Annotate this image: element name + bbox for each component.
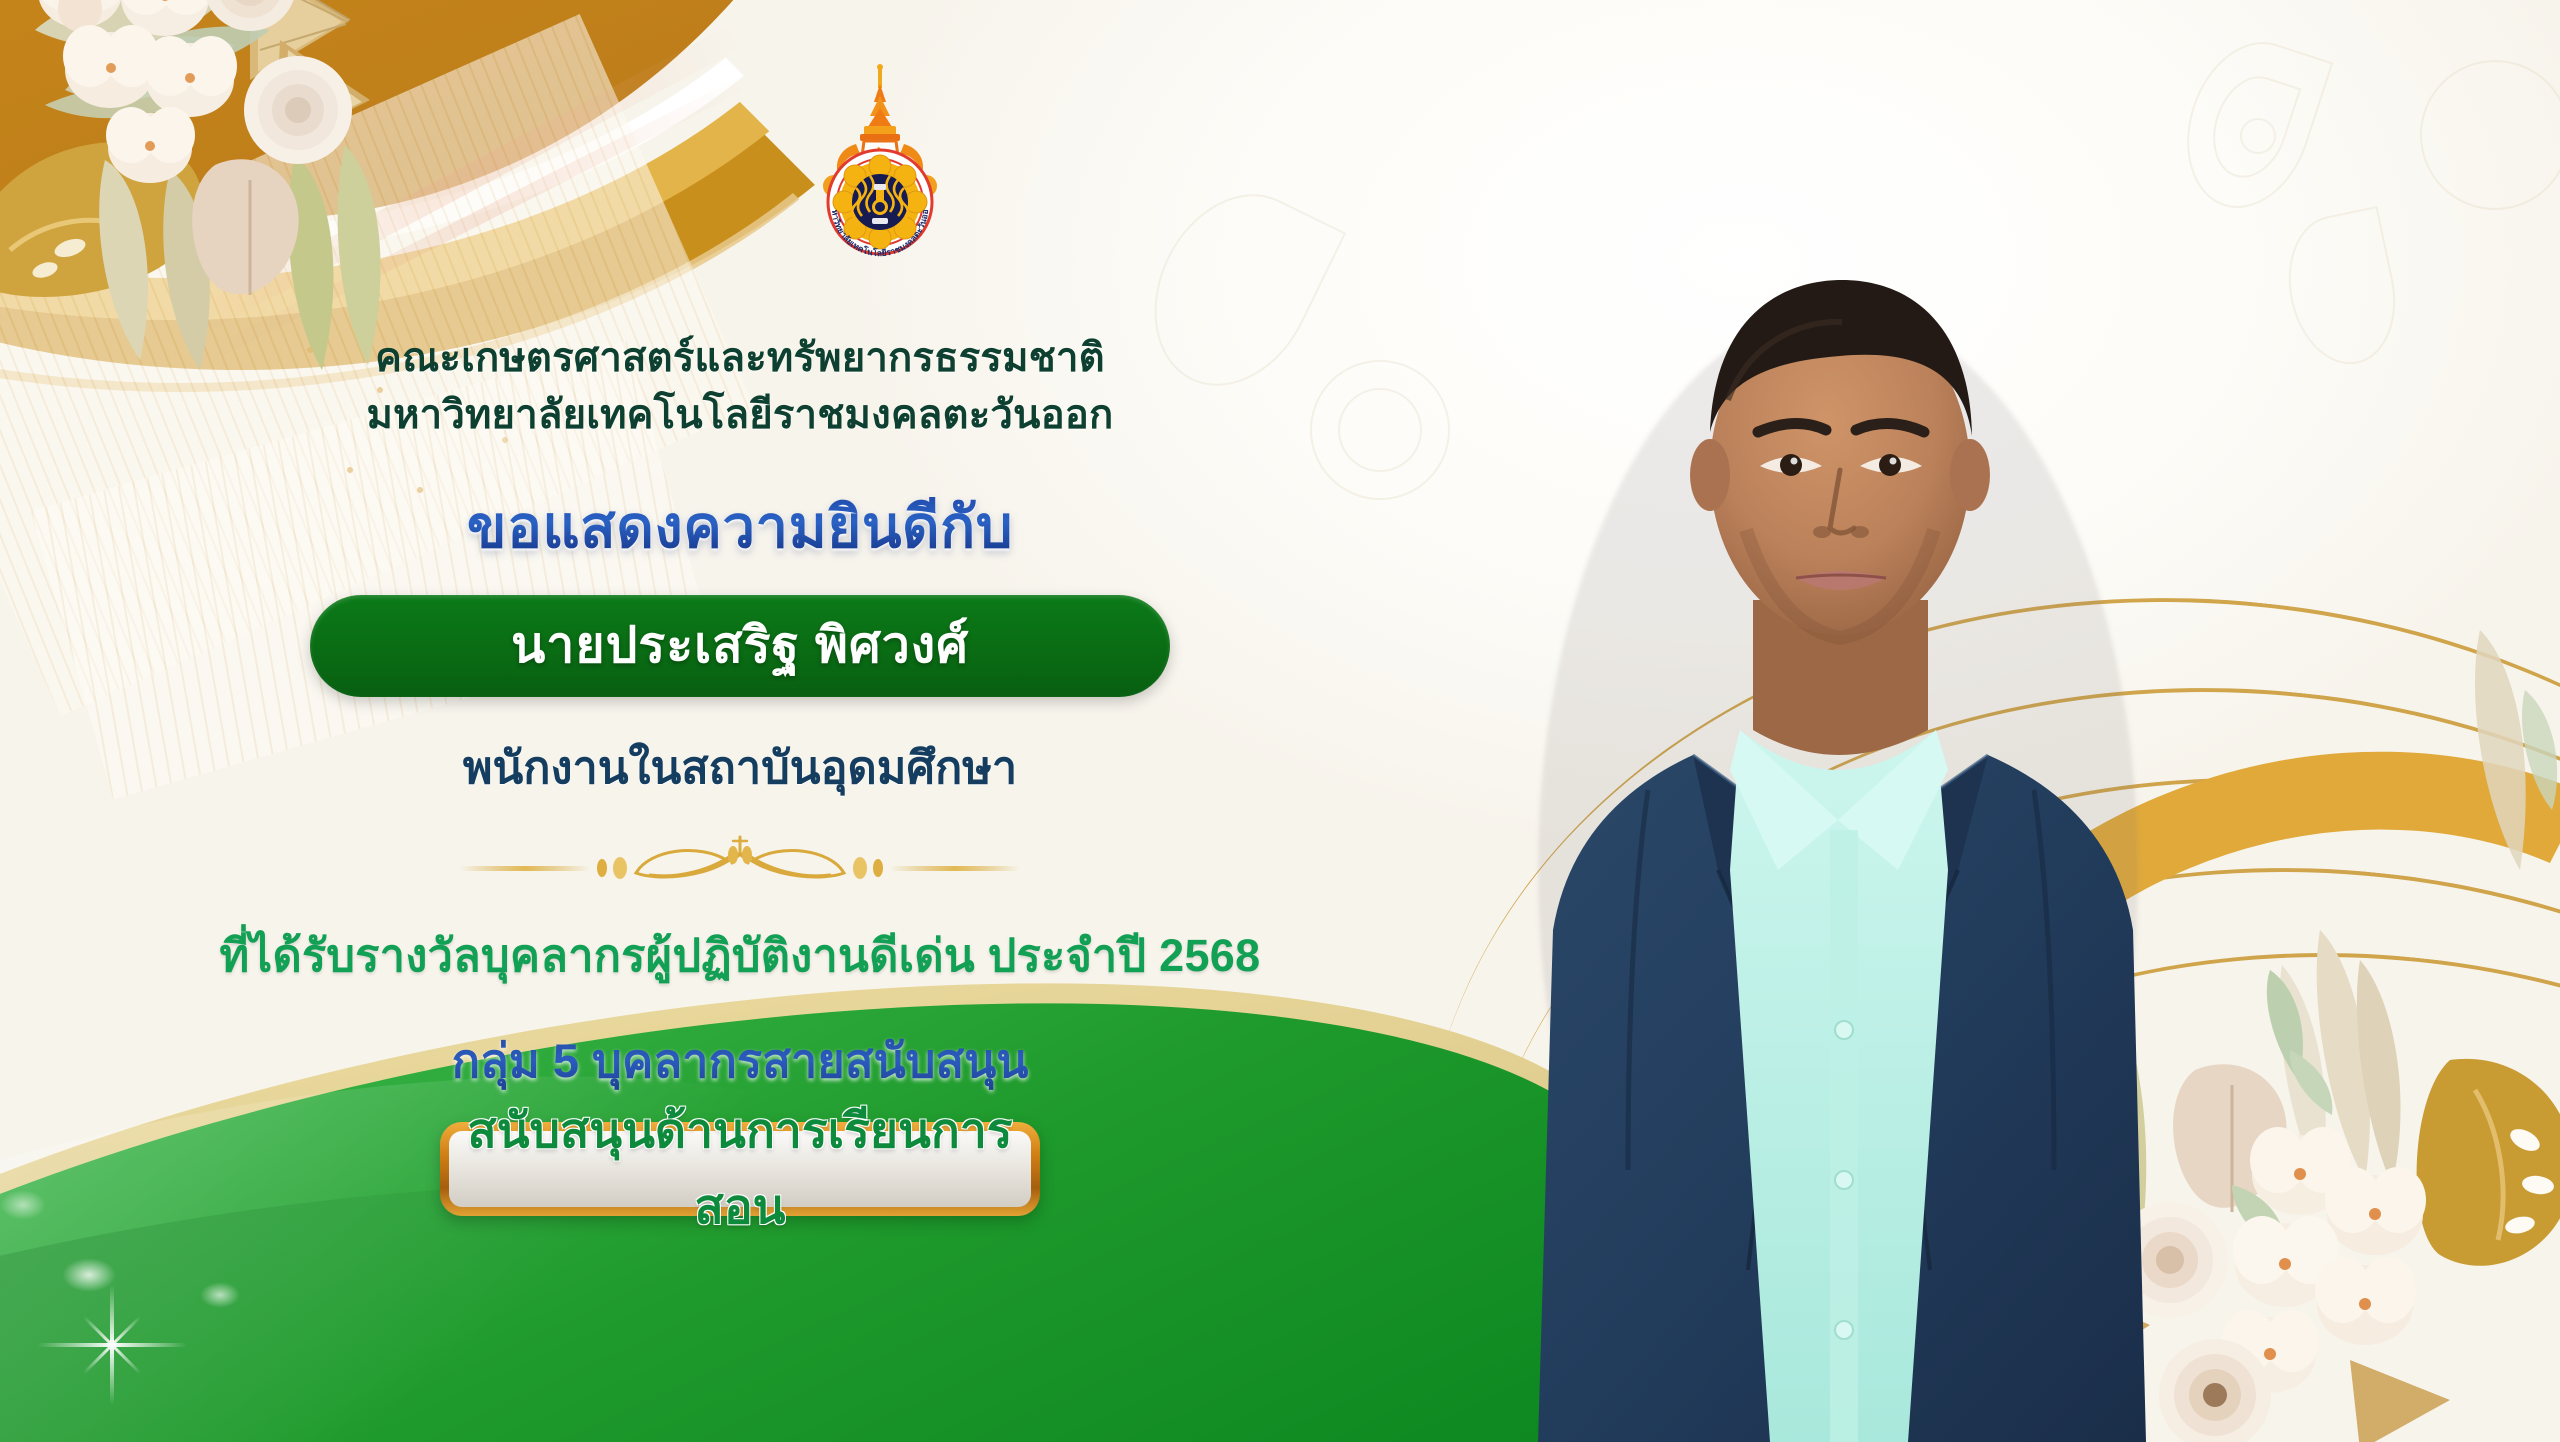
award-recipient-photo (1478, 170, 2238, 1442)
orchid-flower-icon (36, 0, 126, 32)
category-badge: สนับสนุนด้านการเรียนการสอน (440, 1122, 1040, 1216)
dried-leaf-icon (35, 0, 220, 46)
glow-dot (0, 1190, 46, 1220)
star-sparkle-icon (37, 1343, 187, 1347)
congratulation-banner: มหาวิทยาลัยเทคโนโลยีราชมงคลตะวันออก (0, 0, 2560, 1442)
award-description: ที่ได้รับรางวัลบุคลากรผู้ปฏิบัติงานดีเด่… (90, 919, 1390, 991)
recipient-name-pill: นายประเสริฐ พิศวงศ์ (310, 595, 1170, 697)
star-sparkle-icon (110, 1285, 114, 1405)
ring-watermark (2420, 60, 2560, 210)
recipient-position: พนักงานในสถาบันอุดมศึกษา (90, 731, 1390, 803)
congratulation-headline: ขอแสดงความยินดีกับ (90, 480, 1390, 573)
orchid-flower-icon (63, 25, 159, 108)
faculty-line-2: มหาวิทยาลัยเทคโนโลยีราชมงคลตะวันออก (90, 387, 1390, 444)
faculty-line-1: คณะเกษตรศาสตร์และทรัพยากรธรรมชาติ (90, 330, 1390, 387)
dried-leaf-icon (65, 36, 235, 100)
orchid-flower-icon (106, 107, 195, 183)
paisley-watermark (2276, 206, 2409, 374)
sage-leaf-icon (45, 26, 270, 118)
rmutto-university-emblem: มหาวิทยาลัยเทคโนโลยีราชมงคลตะวันออก (806, 62, 956, 262)
shirt-button (1835, 1321, 1853, 1339)
emblem-spire (860, 64, 900, 141)
banner-text-column: คณะเกษตรศาสตร์และทรัพยากรธรรมชาติ มหาวิท… (90, 330, 1390, 1216)
gold-filigree-divider (450, 833, 1030, 885)
shirt-button (1835, 1171, 1853, 1189)
palm-fan-icon (250, 0, 350, 80)
star-sparkle-icon (83, 1316, 142, 1375)
orchid-flower-icon (144, 36, 237, 117)
orchid-flower-icon (119, 0, 213, 36)
recipient-name: นายประเสริฐ พิศวงศ์ (511, 606, 969, 685)
award-group: กลุ่ม 5 บุคลากรสายสนับสนุน (90, 1023, 1390, 1098)
rose-flower-icon (204, 0, 296, 31)
faculty-name: คณะเกษตรศาสตร์และทรัพยากรธรรมชาติ มหาวิท… (90, 330, 1390, 444)
category-badge-label: สนับสนุนด้านการเรียนการสอน (449, 1093, 1031, 1245)
glow-dot (200, 1282, 240, 1308)
star-sparkle-icon (83, 1316, 142, 1375)
dress-shirt (1730, 730, 1948, 1442)
ring-watermark (2240, 118, 2276, 154)
shirt-button (1835, 1021, 1853, 1039)
glow-dot (62, 1258, 116, 1292)
